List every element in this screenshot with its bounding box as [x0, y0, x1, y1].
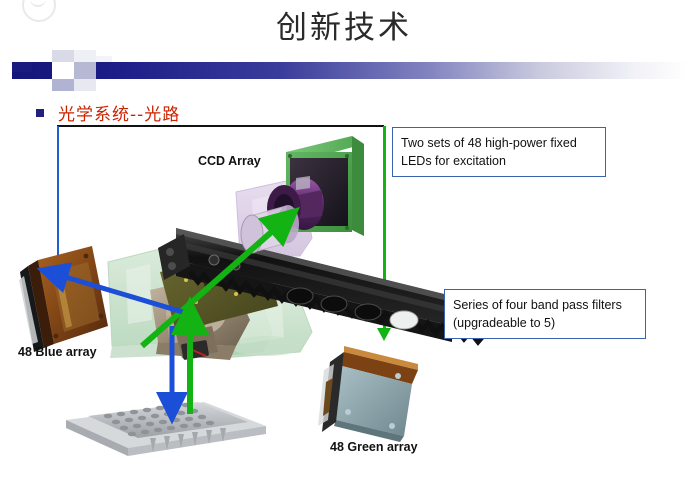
bar-block-6 — [52, 79, 74, 91]
bar-block-5 — [52, 62, 74, 79]
label-ccd-array: CCD Array — [198, 154, 261, 168]
bar-block-1 — [12, 62, 32, 72]
bar-block-4 — [74, 62, 96, 79]
callout-leds: Two sets of 48 high-power fixed LEDs for… — [392, 127, 606, 177]
bar-block-3 — [74, 50, 96, 62]
square-bullet-icon — [36, 109, 44, 117]
bar-block-7 — [74, 79, 96, 91]
bar-gradient — [12, 62, 688, 79]
bar-block-2 — [52, 50, 74, 62]
header-divider-bar — [0, 48, 688, 88]
page-title: 创新技术 — [0, 2, 688, 47]
label-green-array: 48 Green array — [330, 440, 418, 454]
label-blue-array: 48 Blue array — [18, 345, 97, 359]
callout-filters: Series of four band pass filters (upgrad… — [444, 289, 646, 339]
slide-canvas: 创新技术 光学系统--光路 — [0, 0, 688, 484]
blue-led-array — [19, 246, 108, 352]
sample-microplate — [66, 402, 266, 456]
green-led-array — [318, 346, 418, 442]
